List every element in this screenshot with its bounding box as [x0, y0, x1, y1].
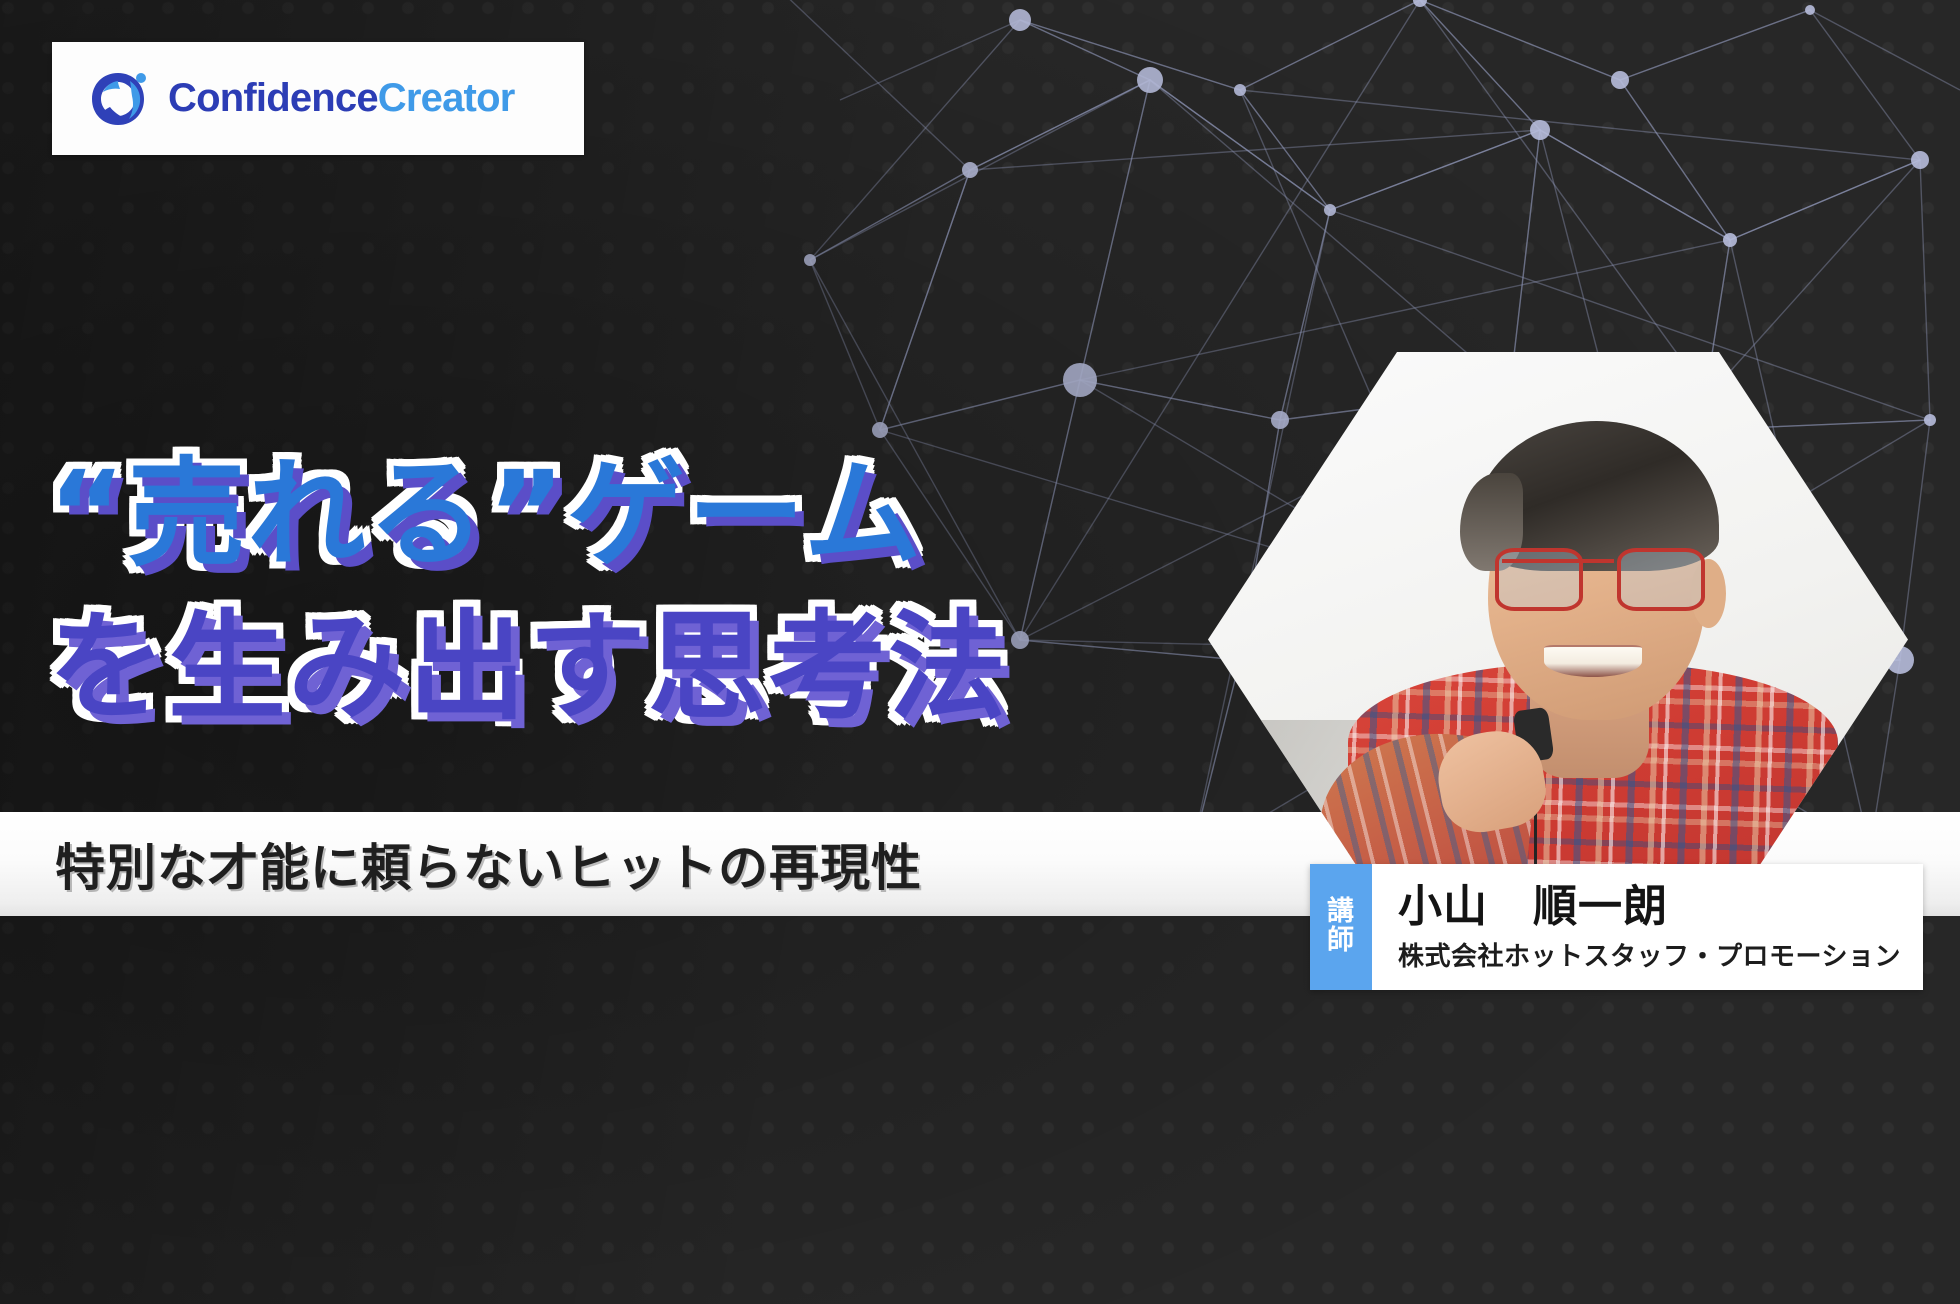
slide-subtitle: 特別な才能に頼らないヒットの再現性: [55, 828, 922, 900]
slide-title: “売れる”ゲーム を生み出す思考法: [48, 452, 1058, 730]
glasses-right-lens: [1617, 548, 1705, 611]
badge-char-bottom: 師: [1327, 927, 1355, 956]
presentation-slide: ConfidenceCreator “売れる”ゲーム を生み出す思考法 特別な才…: [0, 0, 1960, 1304]
speaker-info: 小山 順一朗 株式会社ホットスタッフ・プロモーション: [1372, 864, 1923, 990]
speaker-smile: [1544, 645, 1642, 677]
brand-logo-wordmark: ConfidenceCreator: [168, 76, 514, 121]
speaker-name: 小山 順一朗: [1398, 883, 1901, 931]
title-line-2: を生み出す思考法: [48, 605, 1058, 730]
badge-char-top: 講: [1327, 898, 1355, 927]
glasses-bridge: [1502, 559, 1614, 563]
logo-word-creator: Creator: [378, 76, 515, 120]
speaker-role-badge: 講 師: [1310, 864, 1372, 990]
logo-word-confidence: Confidence: [168, 76, 378, 120]
speaker-organization: 株式会社ホットスタッフ・プロモーション: [1398, 936, 1901, 973]
glasses-left-lens: [1495, 548, 1583, 611]
speaker-red-glasses: [1495, 548, 1705, 611]
title-line-1: “売れる”ゲーム: [48, 452, 1058, 577]
confidence-creator-logo-mark: [86, 67, 150, 131]
brand-logo-plate: ConfidenceCreator: [52, 42, 584, 155]
speaker-nameplate: 講 師 小山 順一朗 株式会社ホットスタッフ・プロモーション: [1310, 864, 1923, 990]
